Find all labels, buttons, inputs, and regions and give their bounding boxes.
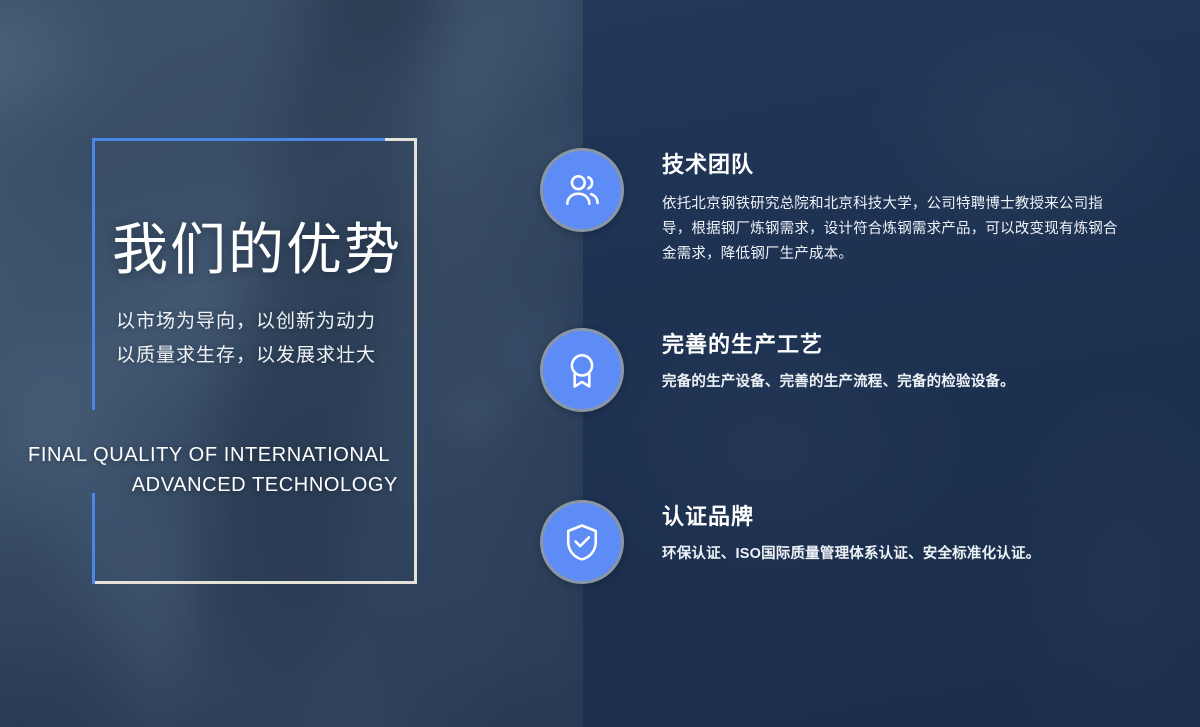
english-subtitle-block: FINAL QUALITY OF INTERNATIONAL ADVANCED … [26,440,398,500]
shield-check-icon [540,500,624,584]
feature-title: 认证品牌 [662,504,1120,530]
feature-item-certified-brand: 认证品牌 环保认证、ISO国际质量管理体系认证、安全标准化认证。 [540,500,1120,584]
english-subtitle-line-2: ADVANCED TECHNOLOGY [26,470,398,500]
feature-title: 技术团队 [662,152,1120,178]
left-content: 我们的优势 以市场为导向，以创新为动力 以质量求生存，以发展求壮大 FINAL … [0,0,583,727]
feature-list: 技术团队 依托北京钢铁研究总院和北京科技大学，公司特聘博士教授来公司指导，根据钢… [583,0,1200,727]
page-title: 我们的优势 [112,222,402,278]
feature-text-certified-brand: 认证品牌 环保认证、ISO国际质量管理体系认证、安全标准化认证。 [624,500,1120,567]
tagline-line-2: 以质量求生存，以发展求壮大 [116,339,416,373]
feature-title: 完善的生产工艺 [662,332,1120,358]
users-group-icon [540,148,624,232]
feature-text-technical-team: 技术团队 依托北京钢铁研究总院和北京科技大学，公司特聘博士教授来公司指导，根据钢… [624,148,1120,267]
feature-text-production-process: 完善的生产工艺 完备的生产设备、完善的生产流程、完备的检验设备。 [624,328,1120,395]
feature-body: 环保认证、ISO国际质量管理体系认证、安全标准化认证。 [662,542,1120,567]
feature-item-production-process: 完善的生产工艺 完备的生产设备、完善的生产流程、完备的检验设备。 [540,328,1120,412]
advantages-slide: 我们的优势 以市场为导向，以创新为动力 以质量求生存，以发展求壮大 FINAL … [0,0,1200,727]
tagline-block: 以市场为导向，以创新为动力 以质量求生存，以发展求壮大 [116,305,416,373]
tagline-line-1: 以市场为导向，以创新为动力 [116,305,416,339]
english-subtitle-line-1: FINAL QUALITY OF INTERNATIONAL [26,440,398,470]
feature-body: 依托北京钢铁研究总院和北京科技大学，公司特聘博士教授来公司指导，根据钢厂炼钢需求… [662,192,1120,267]
feature-body: 完备的生产设备、完善的生产流程、完备的检验设备。 [662,370,1120,395]
medal-award-icon [540,328,624,412]
feature-item-technical-team: 技术团队 依托北京钢铁研究总院和北京科技大学，公司特聘博士教授来公司指导，根据钢… [540,148,1120,267]
